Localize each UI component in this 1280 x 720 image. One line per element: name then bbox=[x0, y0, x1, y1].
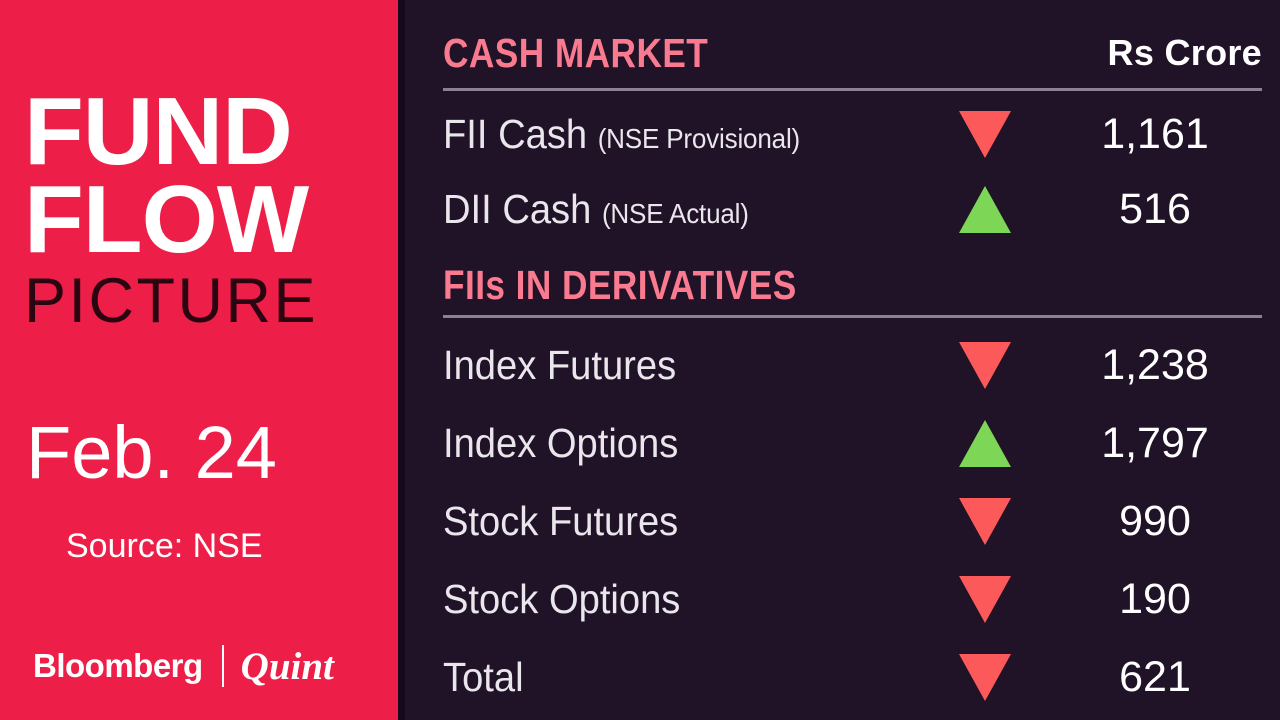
table-row: FII Cash (NSE Provisional) 1,161 bbox=[405, 95, 1280, 173]
logo-divider bbox=[222, 645, 224, 687]
section-header-cash-market: CASH MARKET Rs Crore bbox=[405, 30, 1280, 86]
brand-line-flow: FLOW bbox=[24, 176, 391, 264]
row-value-index-options: 1,797 bbox=[1045, 419, 1265, 468]
row-label-text: Index Futures bbox=[443, 342, 676, 388]
row-label-text: DII Cash bbox=[443, 186, 591, 232]
triangle-down-icon bbox=[959, 654, 1011, 701]
row-value-dii-cash: 516 bbox=[1045, 185, 1265, 234]
section-fiis-in-derivatives: FIIs IN DERIVATIVES Index Futures 1,238 … bbox=[405, 262, 1280, 318]
row-value-stock-futures: 990 bbox=[1045, 497, 1265, 546]
row-label-text: Stock Options bbox=[443, 576, 680, 622]
row-value-total: 621 bbox=[1045, 653, 1265, 702]
table-row: DII Cash (NSE Actual) 516 bbox=[405, 170, 1280, 248]
table-row: Stock Futures 990 bbox=[405, 482, 1280, 560]
triangle-up-icon bbox=[959, 420, 1011, 467]
row-label-fii-cash: FII Cash (NSE Provisional) bbox=[443, 111, 800, 158]
section-title-derivatives: FIIs IN DERIVATIVES bbox=[443, 262, 797, 309]
direction-cell bbox=[925, 654, 1045, 701]
direction-cell bbox=[925, 576, 1045, 623]
triangle-down-icon bbox=[959, 342, 1011, 389]
source-label: Source: NSE bbox=[66, 527, 263, 566]
bloomberg-quint-logo: Bloomberg Quint bbox=[33, 645, 334, 687]
section-cash-market: CASH MARKET Rs Crore FII Cash (NSE Provi… bbox=[405, 30, 1280, 86]
data-panel: CASH MARKET Rs Crore FII Cash (NSE Provi… bbox=[405, 0, 1280, 720]
left-brand-panel: FUND FLOW PICTURE Feb. 24 Source: NSE Bl… bbox=[0, 0, 398, 720]
triangle-down-icon bbox=[959, 111, 1011, 158]
row-label-dii-cash: DII Cash (NSE Actual) bbox=[443, 186, 749, 233]
panel-separator bbox=[398, 0, 405, 720]
row-label-note: (NSE Provisional) bbox=[598, 123, 800, 154]
row-label-note: (NSE Actual) bbox=[602, 198, 749, 229]
row-label-index-futures: Index Futures bbox=[443, 342, 676, 389]
section-rule-cash-market bbox=[443, 88, 1262, 91]
row-value-index-futures: 1,238 bbox=[1045, 341, 1265, 390]
section-title-cash-market: CASH MARKET bbox=[443, 30, 708, 77]
row-label-text: Index Options bbox=[443, 420, 678, 466]
direction-cell bbox=[925, 342, 1045, 389]
table-row: Stock Options 190 bbox=[405, 560, 1280, 638]
table-row: Total 621 bbox=[405, 638, 1280, 716]
row-label-stock-options: Stock Options bbox=[443, 576, 680, 623]
row-label-text: Stock Futures bbox=[443, 498, 678, 544]
direction-cell bbox=[925, 498, 1045, 545]
direction-cell bbox=[925, 111, 1045, 158]
row-label-index-options: Index Options bbox=[443, 420, 678, 467]
fund-flow-graphic: FUND FLOW PICTURE Feb. 24 Source: NSE Bl… bbox=[0, 0, 1280, 720]
triangle-down-icon bbox=[959, 498, 1011, 545]
section-rule-derivatives bbox=[443, 315, 1262, 318]
brand-line-fund: FUND bbox=[24, 88, 391, 176]
triangle-up-icon bbox=[959, 186, 1011, 233]
row-label-total: Total bbox=[443, 654, 524, 701]
triangle-down-icon bbox=[959, 576, 1011, 623]
row-value-stock-options: 190 bbox=[1045, 575, 1265, 624]
section-header-derivatives: FIIs IN DERIVATIVES bbox=[405, 262, 1280, 318]
row-value-fii-cash: 1,161 bbox=[1045, 110, 1265, 159]
table-row: Index Futures 1,238 bbox=[405, 326, 1280, 404]
logo-quint-text: Quint bbox=[241, 644, 334, 689]
logo-bloomberg-text: Bloomberg bbox=[33, 647, 203, 685]
row-label-text: Total bbox=[443, 654, 524, 700]
brand-line-picture: PICTURE bbox=[24, 269, 384, 333]
unit-label-rs-crore: Rs Crore bbox=[1108, 32, 1262, 74]
date-label: Feb. 24 bbox=[26, 416, 277, 490]
brand-title-block: FUND FLOW PICTURE bbox=[24, 88, 384, 333]
direction-cell bbox=[925, 186, 1045, 233]
direction-cell bbox=[925, 420, 1045, 467]
row-label-text: FII Cash bbox=[443, 111, 587, 157]
table-row: Index Options 1,797 bbox=[405, 404, 1280, 482]
row-label-stock-futures: Stock Futures bbox=[443, 498, 678, 545]
